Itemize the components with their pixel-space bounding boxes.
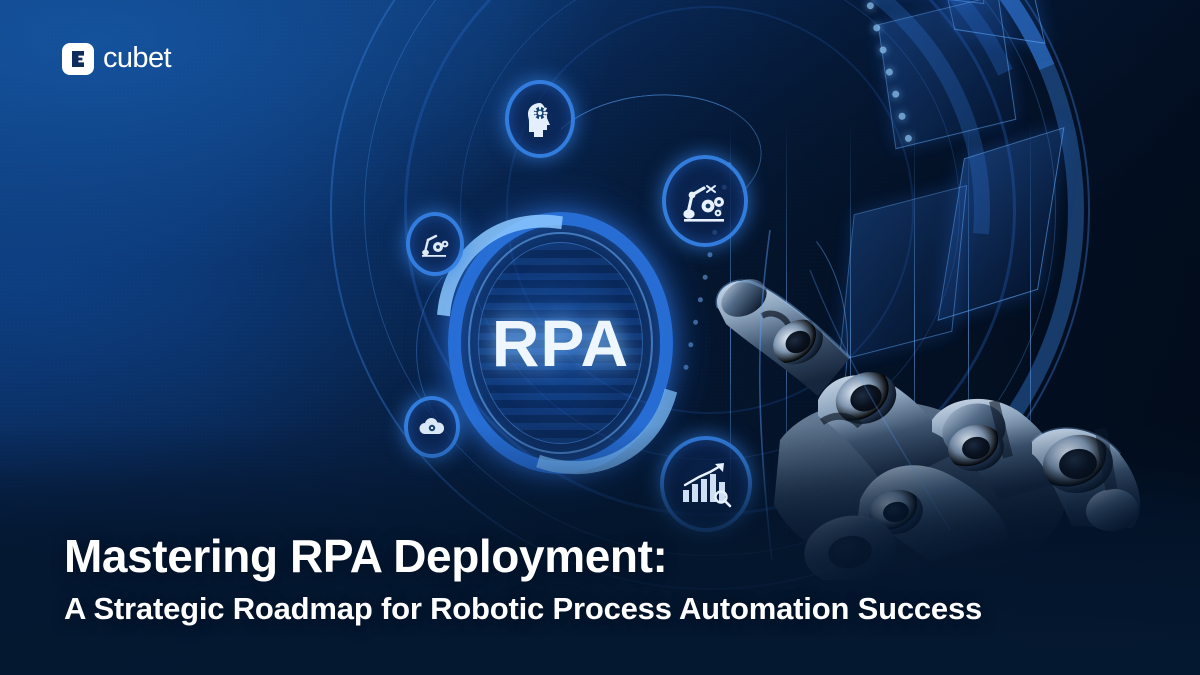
page-subtitle: A Strategic Roadmap for Robotic Process … — [64, 591, 1164, 627]
robotic-arm-gears-icon — [680, 177, 730, 225]
ai-cognition-node — [505, 80, 575, 158]
hero-banner: RPA — [0, 0, 1200, 675]
head-with-gears-icon — [523, 101, 557, 137]
cubet-logo-mark — [62, 43, 94, 75]
cloud-icon — [417, 416, 447, 438]
headline-block: Mastering RPA Deployment: A Strategic Ro… — [64, 532, 1164, 627]
configuration-node — [406, 212, 464, 276]
brand-name: cubet — [103, 42, 171, 75]
brand-logo[interactable]: cubet — [62, 42, 171, 75]
settings-gears-icon — [420, 229, 450, 259]
bar-chart-growth-icon — [679, 460, 733, 508]
page-title: Mastering RPA Deployment: — [64, 532, 1164, 582]
